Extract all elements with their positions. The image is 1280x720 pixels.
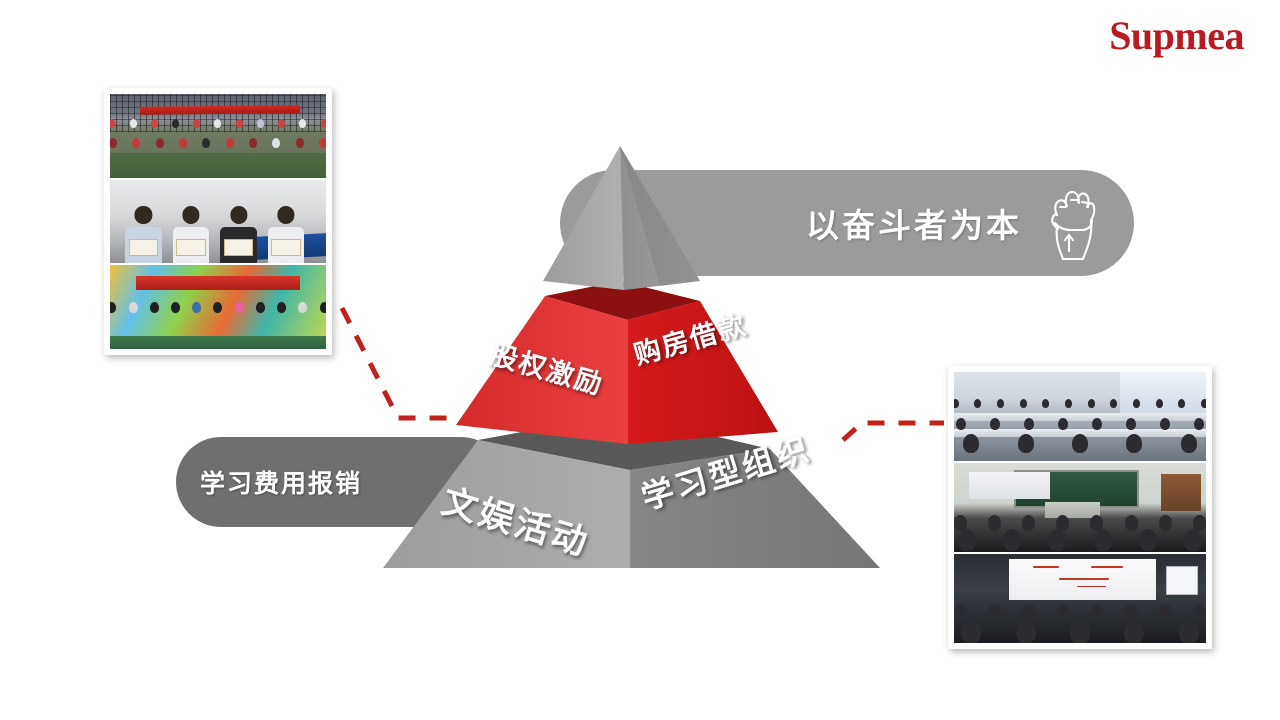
photo-award-ceremony [110, 180, 326, 264]
red-banner [136, 276, 300, 289]
photo-scene [954, 463, 1206, 552]
apex-callout-label: 以奋斗者为本 [806, 199, 1022, 247]
window-light [1120, 372, 1206, 418]
fist-icon [1044, 185, 1098, 261]
certificate [224, 239, 254, 256]
pyramid-label-housing-loan: 购房借款 [629, 303, 751, 372]
pyramid-label-cultural-activities: 文娱活动 [437, 473, 597, 566]
projection-screen [1009, 559, 1155, 600]
certificate [176, 239, 206, 256]
base-callout-label: 学习费用报销 [200, 464, 362, 500]
connector-right-dashed [843, 423, 944, 440]
photo-scene [110, 265, 326, 349]
crowd-row-back [954, 604, 1206, 619]
wooden-door [1161, 474, 1201, 511]
photo-scene [110, 180, 326, 264]
photo-scene [954, 372, 1206, 461]
court-floor [110, 153, 326, 178]
person [266, 206, 307, 263]
photo-scene [110, 94, 326, 178]
certificate [129, 239, 159, 256]
green-floor [110, 336, 326, 349]
person [170, 206, 211, 263]
whiteboard [1166, 566, 1198, 595]
crowd-row-back [954, 399, 1206, 408]
certificate [271, 239, 301, 256]
crowd-row-front [954, 620, 1206, 643]
supmea-logo: Supmea [1109, 16, 1244, 56]
photo-sports-team [110, 94, 326, 178]
photo-fitness-event [110, 265, 326, 349]
photo-scene [954, 554, 1206, 643]
photo-classroom-lecture [954, 463, 1206, 552]
pyramid-label-learning-organization: 学习型组织 [635, 424, 816, 519]
training-session-photo-collage [948, 366, 1212, 649]
crowd-row-front [110, 138, 326, 148]
crowd-row-back [110, 119, 326, 128]
photo-projector-presentation [954, 554, 1206, 643]
person [218, 206, 259, 263]
pyramid-middle-top-face [545, 281, 700, 320]
crowd-row [110, 302, 326, 313]
crowd-row-mid [954, 418, 1206, 430]
crowd-row-front [954, 434, 1206, 453]
slide-canvas: Supmea [0, 0, 1280, 720]
person [123, 206, 164, 263]
pyramid-label-equity-incentive: 股权激励 [487, 333, 609, 402]
apex-callout-pill[interactable]: 以奋斗者为本 [560, 170, 1134, 276]
connector-left-dashed [342, 308, 456, 418]
projection-screen [969, 472, 1050, 499]
crowd-row-front [954, 529, 1206, 551]
employee-activities-photo-collage [104, 88, 332, 355]
red-banner [140, 105, 300, 114]
photo-lecture-hall [954, 372, 1206, 461]
